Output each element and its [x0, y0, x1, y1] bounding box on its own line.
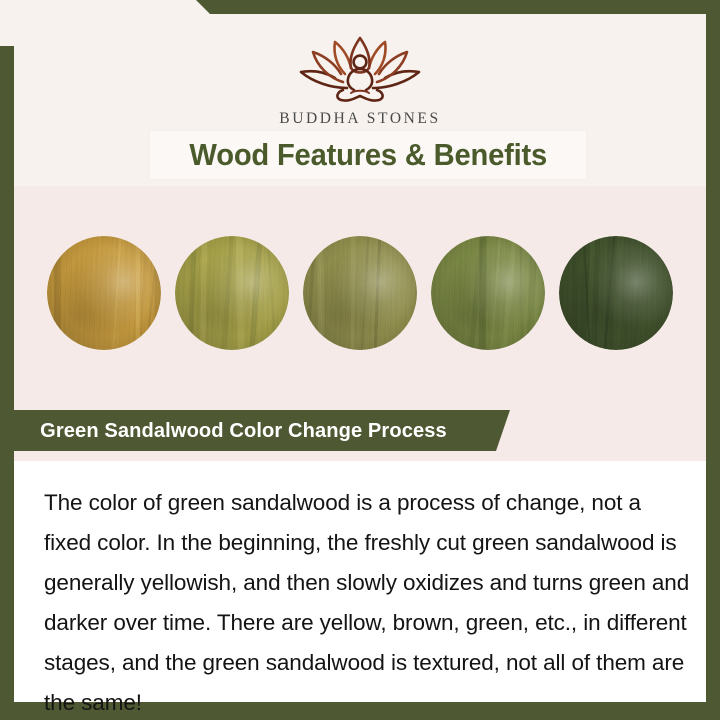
bead-swatch	[431, 236, 545, 350]
body-paragraph: The color of green sandalwood is a proce…	[44, 483, 690, 720]
bead-swatch	[559, 236, 673, 350]
header-section: BUDDHA STONES Wood Features & Benefits	[14, 14, 706, 186]
brand-logo: BUDDHA STONES	[14, 32, 706, 128]
content-card: BUDDHA STONES Wood Features & Benefits G…	[14, 14, 706, 702]
banner-zone: Green Sandalwood Color Change Process	[14, 400, 706, 461]
infographic-page: BUDDHA STONES Wood Features & Benefits G…	[0, 0, 720, 720]
bead-shading	[559, 236, 673, 350]
bead-swatch-band	[14, 186, 706, 400]
bead-swatch	[47, 236, 161, 350]
page-title: Wood Features & Benefits	[189, 137, 547, 173]
title-plaque: Wood Features & Benefits	[150, 131, 586, 179]
bead-shading	[47, 236, 161, 350]
brand-name: BUDDHA STONES	[279, 110, 440, 128]
bead-shading	[303, 236, 417, 350]
bead-shading	[431, 236, 545, 350]
body-text-panel: The color of green sandalwood is a proce…	[14, 461, 706, 702]
bead-shading	[175, 236, 289, 350]
bead-swatch	[175, 236, 289, 350]
lotus-meditation-icon	[285, 32, 435, 104]
bead-swatch	[303, 236, 417, 350]
section-banner: Green Sandalwood Color Change Process	[0, 410, 524, 451]
bead-row	[14, 186, 706, 400]
section-banner-label: Green Sandalwood Color Change Process	[40, 419, 447, 443]
